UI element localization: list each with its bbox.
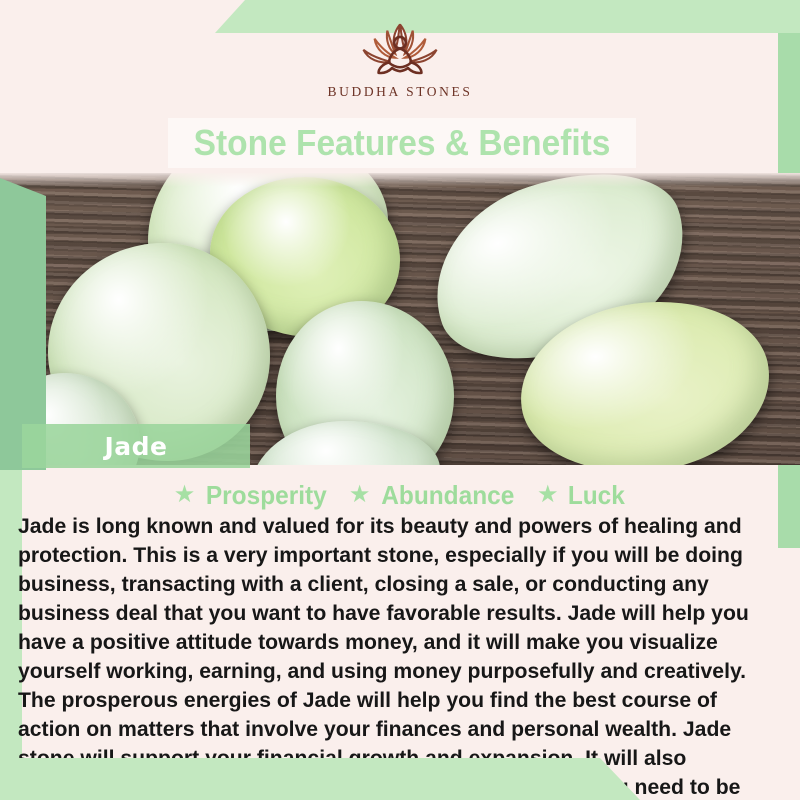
lotus-meditation-icon — [352, 18, 448, 80]
benefit-item: ★ Prosperity — [174, 480, 331, 511]
brand-name: BUDDHA STONES — [328, 84, 473, 100]
infographic-card: BUDDHA STONES Stone Features & Benefits … — [0, 0, 800, 800]
benefits-list: ★ Prosperity ★ Abundance ★ Luck — [0, 479, 800, 511]
brand-header: BUDDHA STONES — [0, 0, 800, 118]
brand-logo: BUDDHA STONES — [328, 18, 473, 100]
star-icon: ★ — [349, 483, 371, 507]
stone-name-band: Jade — [22, 424, 250, 468]
benefit-label: Prosperity — [206, 480, 327, 511]
benefit-label: Luck — [567, 480, 624, 511]
benefit-label: Abundance — [382, 480, 515, 511]
benefit-item: ★ Abundance — [349, 480, 519, 511]
title-banner: Stone Features & Benefits — [168, 118, 636, 168]
stone-name-label: Jade — [104, 432, 167, 461]
star-icon: ★ — [174, 483, 196, 507]
description-text: Jade is long known and valued for its be… — [18, 512, 774, 800]
photo-top-fade — [0, 173, 800, 187]
stone-photo — [0, 173, 800, 465]
star-icon: ★ — [537, 483, 559, 507]
page-title: Stone Features & Benefits — [194, 125, 611, 161]
benefit-item: ★ Luck — [537, 480, 626, 511]
